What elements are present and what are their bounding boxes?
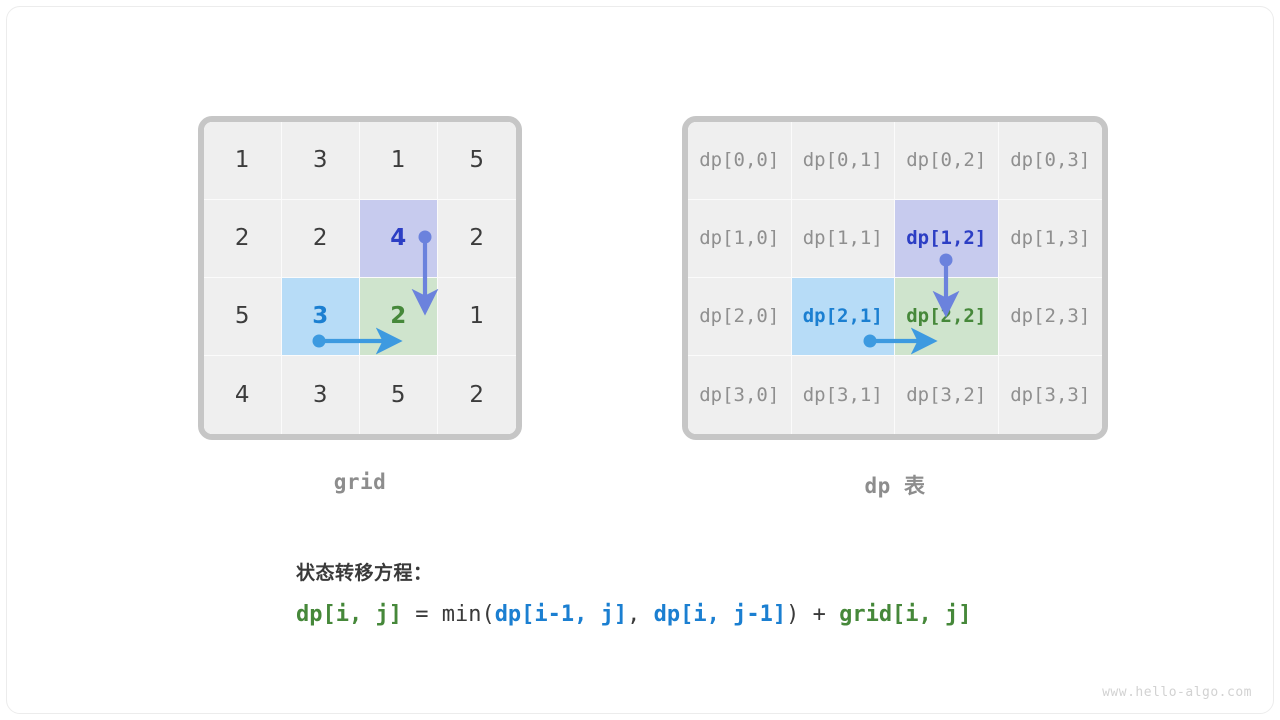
dp-cell-label: dp[1,3] <box>1010 229 1090 248</box>
dp-cell-0-2[interactable]: dp[0,2] <box>895 122 999 200</box>
grid-cell-3-2[interactable]: 5 <box>360 356 438 434</box>
dp-table-wrap: dp[0,0] dp[0,1] dp[0,2] dp[0,3] dp[1,0] … <box>682 116 1108 440</box>
dp-cell-label: dp[0,3] <box>1010 151 1090 170</box>
watermark: www.hello-algo.com <box>1102 685 1252 700</box>
grid-cell-3-3[interactable]: 2 <box>438 356 516 434</box>
dp-cell-3-2[interactable]: dp[3,2] <box>895 356 999 434</box>
dp-cell-label: dp[2,0] <box>699 307 779 326</box>
grid-cell-1-3[interactable]: 2 <box>438 200 516 278</box>
formula-part-eq-min: = min( <box>402 602 495 627</box>
grid-cell-3-1[interactable]: 3 <box>282 356 360 434</box>
dp-cell-0-1[interactable]: dp[0,1] <box>792 122 896 200</box>
grid-cell-2-2-highlight-green[interactable]: 2 <box>360 278 438 356</box>
dp-cell-2-1-highlight-blue[interactable]: dp[2,1] <box>792 278 896 356</box>
grid-cell-value: 2 <box>313 227 328 250</box>
dp-cell-3-0[interactable]: dp[3,0] <box>688 356 792 434</box>
formula-part-close-plus: ) + <box>786 602 839 627</box>
diagram-page: 1 3 1 5 2 2 4 2 5 3 2 1 4 3 5 2 <box>0 0 1280 720</box>
grid-cell-value: 1 <box>469 305 484 328</box>
dp-cell-1-1[interactable]: dp[1,1] <box>792 200 896 278</box>
dp-cell-label: dp[1,1] <box>803 229 883 248</box>
dp-cell-2-2-highlight-green[interactable]: dp[2,2] <box>895 278 999 356</box>
dp-cell-label: dp[0,0] <box>699 151 779 170</box>
dp-cell-0-3[interactable]: dp[0,3] <box>999 122 1103 200</box>
formula-part-dp-i-jm1: dp[i, j-1] <box>654 602 786 627</box>
dp-cell-label: dp[2,1] <box>803 307 883 326</box>
grid-cell-1-2-highlight-purple[interactable]: 4 <box>360 200 438 278</box>
grid-cell-2-3[interactable]: 1 <box>438 278 516 356</box>
formula-part-dp-ij: dp[i, j] <box>296 602 402 627</box>
grid-cell-0-1[interactable]: 3 <box>282 122 360 200</box>
dp-cell-label: dp[2,3] <box>1010 307 1090 326</box>
dp-cell-label: dp[0,2] <box>906 151 986 170</box>
dp-cell-2-3[interactable]: dp[2,3] <box>999 278 1103 356</box>
grid-table: 1 3 1 5 2 2 4 2 5 3 2 1 4 3 5 2 <box>198 116 522 440</box>
dp-cell-label: dp[3,0] <box>699 386 779 405</box>
formula-part-dp-im1-j: dp[i-1, j] <box>495 602 627 627</box>
grid-cell-value: 4 <box>235 384 250 407</box>
grid-cells: 1 3 1 5 2 2 4 2 5 3 2 1 4 3 5 2 <box>204 122 516 434</box>
grid-cell-value: 3 <box>312 305 329 328</box>
grid-cell-value: 3 <box>313 149 328 172</box>
grid-table-wrap: 1 3 1 5 2 2 4 2 5 3 2 1 4 3 5 2 <box>198 116 522 440</box>
dp-cell-3-3[interactable]: dp[3,3] <box>999 356 1103 434</box>
grid-cell-2-0[interactable]: 5 <box>204 278 282 356</box>
grid-cell-value: 2 <box>235 227 250 250</box>
dp-cell-1-2-highlight-purple[interactable]: dp[1,2] <box>895 200 999 278</box>
dp-table: dp[0,0] dp[0,1] dp[0,2] dp[0,3] dp[1,0] … <box>682 116 1108 440</box>
formula-part-comma: , <box>627 602 654 627</box>
grid-cell-2-1-highlight-blue[interactable]: 3 <box>282 278 360 356</box>
dp-cell-1-0[interactable]: dp[1,0] <box>688 200 792 278</box>
dp-cell-3-1[interactable]: dp[3,1] <box>792 356 896 434</box>
grid-cell-1-1[interactable]: 2 <box>282 200 360 278</box>
formula-equation: dp[i, j] = min(dp[i-1, j], dp[i, j-1]) +… <box>296 602 972 627</box>
dp-cell-label: dp[0,1] <box>803 151 883 170</box>
dp-cell-label: dp[3,2] <box>906 386 986 405</box>
dp-cell-label: dp[2,2] <box>906 307 986 326</box>
formula-title: 状态转移方程： <box>296 558 972 585</box>
grid-cell-0-3[interactable]: 5 <box>438 122 516 200</box>
grid-cell-value: 5 <box>469 149 484 172</box>
grid-cell-value: 1 <box>391 149 406 172</box>
dp-caption: dp 表 <box>682 470 1108 500</box>
grid-cell-value: 1 <box>235 149 250 172</box>
dp-cell-2-0[interactable]: dp[2,0] <box>688 278 792 356</box>
grid-cell-1-0[interactable]: 2 <box>204 200 282 278</box>
grid-cell-0-2[interactable]: 1 <box>360 122 438 200</box>
dp-cell-label: dp[3,1] <box>803 386 883 405</box>
grid-cell-3-0[interactable]: 4 <box>204 356 282 434</box>
dp-cell-label: dp[1,0] <box>699 229 779 248</box>
dp-cell-label: dp[3,3] <box>1010 386 1090 405</box>
grid-cell-value: 5 <box>391 384 406 407</box>
dp-cell-1-3[interactable]: dp[1,3] <box>999 200 1103 278</box>
grid-cell-value: 2 <box>390 305 407 328</box>
grid-cell-value: 5 <box>235 305 250 328</box>
grid-cell-value: 4 <box>390 227 407 250</box>
dp-cell-label: dp[1,2] <box>906 229 986 248</box>
dp-cell-0-0[interactable]: dp[0,0] <box>688 122 792 200</box>
grid-cell-value: 3 <box>313 384 328 407</box>
formula-part-grid-ij: grid[i, j] <box>839 602 971 627</box>
grid-cell-0-0[interactable]: 1 <box>204 122 282 200</box>
formula-block: 状态转移方程： dp[i, j] = min(dp[i-1, j], dp[i,… <box>296 558 972 627</box>
grid-cell-value: 2 <box>469 227 484 250</box>
dp-cells: dp[0,0] dp[0,1] dp[0,2] dp[0,3] dp[1,0] … <box>688 122 1102 434</box>
grid-caption: grid <box>198 470 522 494</box>
grid-cell-value: 2 <box>469 384 484 407</box>
